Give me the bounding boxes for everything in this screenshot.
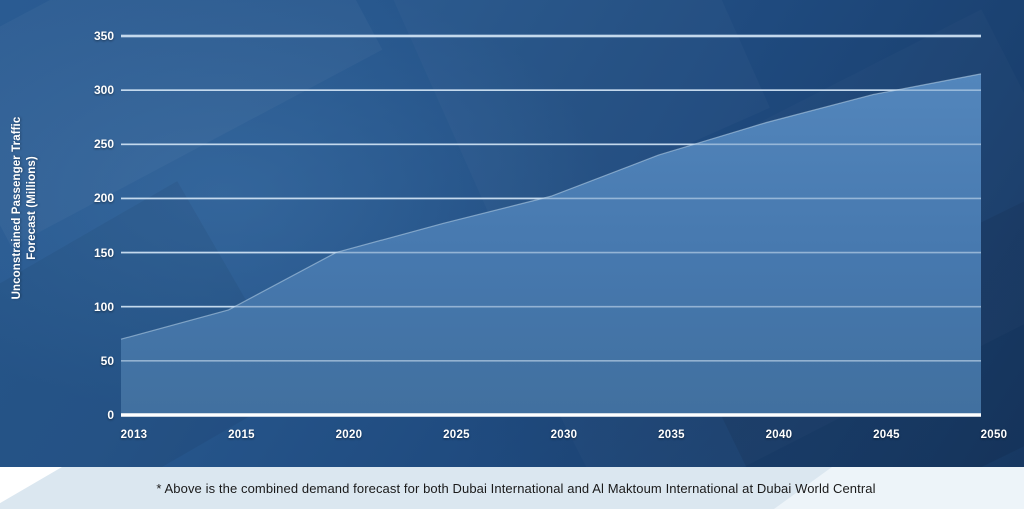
x-axis-tick-label: 2015 xyxy=(207,429,277,441)
x-axis-tick-labels: 201320152020202520302035204020452050 xyxy=(0,429,1024,449)
y-axis-tick-label: 50 xyxy=(62,354,114,368)
plot-area xyxy=(121,36,981,415)
x-axis-tick-label: 2035 xyxy=(637,429,707,441)
y-axis-title-line1: Unconstrained Passenger Traffic xyxy=(10,18,25,398)
area-series-fill xyxy=(121,74,981,415)
y-axis-tick-label: 0 xyxy=(62,408,114,422)
x-axis-tick-label: 2050 xyxy=(959,429,1024,441)
y-axis-title-line2: Forecast (Millions) xyxy=(25,18,40,398)
footnote-bar: * Above is the combined demand forecast … xyxy=(0,467,1024,509)
y-axis-tick-label: 250 xyxy=(62,137,114,151)
x-axis-tick-label: 2025 xyxy=(422,429,492,441)
x-axis-tick-label: 2013 xyxy=(99,429,169,441)
x-axis-tick-label: 2040 xyxy=(744,429,814,441)
footnote-text: * Above is the combined demand forecast … xyxy=(0,467,1024,509)
y-axis-tick-label: 300 xyxy=(62,83,114,97)
x-axis-tick-label: 2020 xyxy=(314,429,384,441)
chart-slide: Unconstrained Passenger Traffic Forecast… xyxy=(0,0,1024,509)
area-chart-svg xyxy=(121,36,981,415)
y-axis-tick-label: 150 xyxy=(62,246,114,260)
x-axis-tick-label: 2045 xyxy=(852,429,922,441)
x-axis-tick-label: 2030 xyxy=(529,429,599,441)
y-axis-tick-label: 350 xyxy=(62,29,114,43)
y-axis-tick-label: 100 xyxy=(62,300,114,314)
y-axis-tick-label: 200 xyxy=(62,191,114,205)
